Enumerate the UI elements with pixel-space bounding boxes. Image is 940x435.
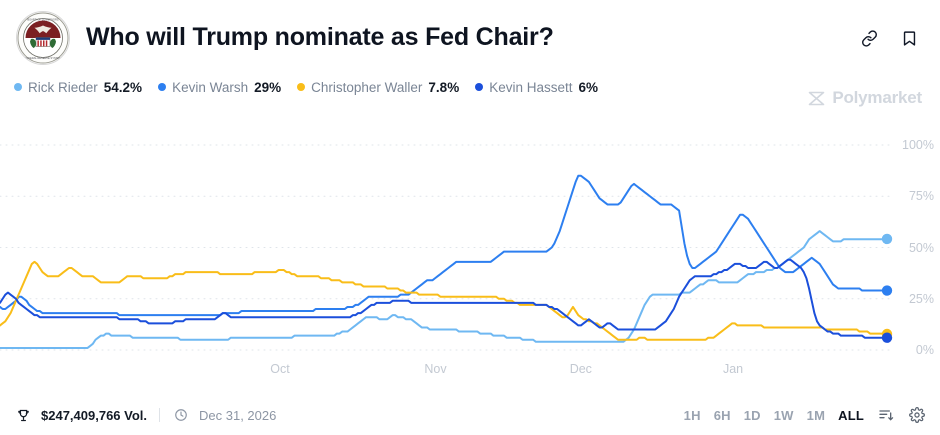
price-history-chart[interactable]: 0%25%50%75%100% OctNovDecJan	[0, 120, 940, 388]
polymarket-watermark: Polymarket	[808, 88, 922, 108]
volume-label: $247,409,766 Vol.	[41, 408, 147, 423]
x-axis-tick: Nov	[424, 363, 446, 376]
legend-item-christopher-waller[interactable]: Christopher Waller7.8%	[297, 80, 459, 95]
y-axis-tick: 50%	[909, 242, 934, 255]
header: BOARD OF GOVERNORS FEDERAL RESERVE SYSTE…	[0, 0, 940, 62]
y-axis-tick: 75%	[909, 190, 934, 203]
x-axis-tick: Oct	[270, 363, 289, 376]
y-axis-tick: 100%	[902, 139, 934, 152]
time-range-1d[interactable]: 1D	[744, 408, 761, 423]
federal-reserve-seal-icon: BOARD OF GOVERNORS FEDERAL RESERVE SYSTE…	[16, 11, 70, 65]
legend-color-dot	[475, 83, 483, 91]
x-axis-tick: Jan	[723, 363, 743, 376]
legend-item-rick-rieder[interactable]: Rick Rieder54.2%	[14, 80, 142, 95]
time-range-1m[interactable]: 1M	[807, 408, 825, 423]
time-range-1h[interactable]: 1H	[684, 408, 701, 423]
time-range-6h[interactable]: 6H	[714, 408, 731, 423]
legend-label: Kevin Warsh	[172, 80, 248, 95]
legend-value: 29%	[254, 80, 281, 95]
y-axis-labels: 0%25%50%75%100%	[888, 120, 934, 388]
footer: $247,409,766 Vol. Dec 31, 2026 1H6H1D1W1…	[0, 395, 940, 435]
y-axis-tick: 0%	[916, 344, 934, 357]
clock-icon	[172, 406, 190, 424]
header-actions	[858, 27, 924, 49]
x-axis-labels: OctNovDecJan	[0, 363, 940, 385]
legend-item-kevin-warsh[interactable]: Kevin Warsh29%	[158, 80, 281, 95]
legend: Rick Rieder54.2%Kevin Warsh29%Christophe…	[0, 62, 940, 96]
svg-text:FEDERAL RESERVE SYSTEM: FEDERAL RESERVE SYSTEM	[25, 56, 61, 60]
trophy-icon	[14, 406, 32, 424]
legend-label: Rick Rieder	[28, 80, 98, 95]
copy-link-button[interactable]	[858, 27, 880, 49]
chart-svg	[0, 120, 940, 388]
x-axis-tick: Dec	[570, 363, 592, 376]
y-axis-tick: 25%	[909, 293, 934, 306]
legend-color-dot	[297, 83, 305, 91]
bookmark-button[interactable]	[898, 27, 920, 49]
legend-label: Kevin Hassett	[489, 80, 572, 95]
time-range-all[interactable]: ALL	[838, 408, 864, 423]
page-title: Who will Trump nominate as Fed Chair?	[86, 24, 554, 52]
footer-controls: 1H6H1D1W1MALL	[684, 406, 926, 424]
end-date-label: Dec 31, 2026	[199, 408, 276, 423]
settings-gear-icon[interactable]	[908, 406, 926, 424]
legend-color-dot	[158, 83, 166, 91]
legend-value: 6%	[579, 80, 599, 95]
polymarket-chart-card: BOARD OF GOVERNORS FEDERAL RESERVE SYSTE…	[0, 0, 940, 435]
polymarket-logo-icon	[808, 91, 825, 106]
legend-label: Christopher Waller	[311, 80, 422, 95]
polymarket-watermark-text: Polymarket	[832, 88, 922, 108]
legend-item-kevin-hassett[interactable]: Kevin Hassett6%	[475, 80, 598, 95]
legend-value: 54.2%	[104, 80, 142, 95]
sort-icon[interactable]	[877, 406, 895, 424]
svg-text:BOARD OF GOVERNORS: BOARD OF GOVERNORS	[27, 18, 58, 22]
series-line-rick-rieder	[0, 231, 886, 348]
time-range-group: 1H6H1D1W1MALL	[684, 408, 864, 423]
footer-divider	[159, 408, 160, 422]
legend-color-dot	[14, 83, 22, 91]
time-range-1w[interactable]: 1W	[774, 408, 794, 423]
footer-meta: $247,409,766 Vol. Dec 31, 2026	[14, 406, 276, 424]
legend-value: 7.8%	[428, 80, 459, 95]
